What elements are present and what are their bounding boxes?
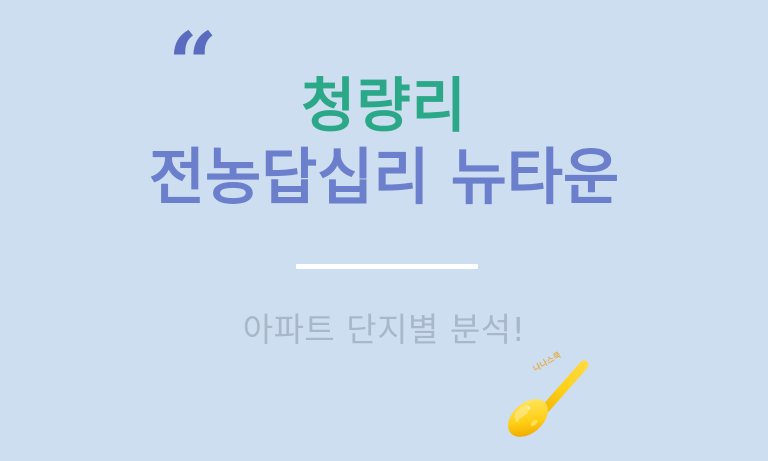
page-title: 청량리 전농답십리 뉴타운: [0, 76, 768, 208]
title-line-primary: 청량리: [0, 76, 768, 135]
title-card: “ 청량리 전농답십리 뉴타운 아파트 단지별 분석!: [0, 0, 768, 461]
subtitle: 아파트 단지별 분석!: [0, 303, 768, 351]
title-line-secondary: 전농답십리 뉴타운: [0, 147, 768, 208]
title-divider: [296, 264, 478, 269]
